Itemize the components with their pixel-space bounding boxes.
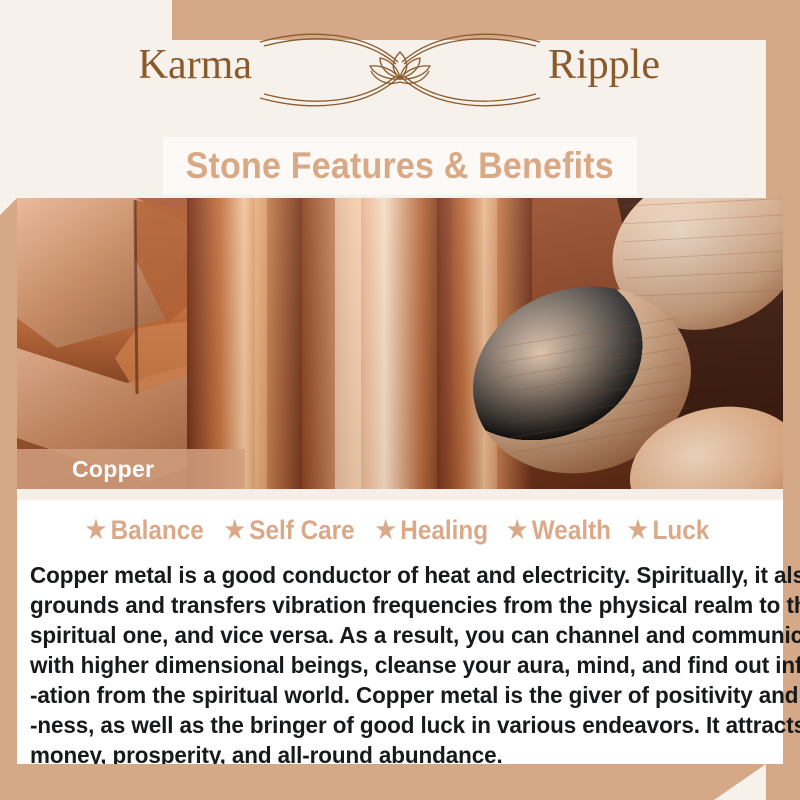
feature-item: ★ Luck bbox=[628, 515, 716, 546]
feature-item: ★ Balance bbox=[86, 515, 210, 546]
frame-bottom-chamfer bbox=[714, 764, 766, 800]
description-line: grounds and transfers vibration frequenc… bbox=[30, 590, 741, 620]
feature-label: Balance bbox=[111, 515, 204, 546]
description-line: -ness, as well as the bringer of good lu… bbox=[30, 710, 741, 740]
description-line: with higher dimensional beings, cleanse … bbox=[30, 650, 741, 680]
brand-name-left: Karma bbox=[140, 42, 252, 88]
feature-label: Self Care bbox=[250, 515, 355, 546]
frame-left-chamfer bbox=[0, 198, 17, 215]
copper-bars-illustration bbox=[17, 198, 783, 489]
star-icon: ★ bbox=[225, 518, 245, 543]
content-top-fade bbox=[17, 489, 783, 500]
feature-label: Luck bbox=[653, 515, 710, 546]
lotus-flourish-icon: Karma Ripple bbox=[140, 20, 660, 120]
description-line: -ation from the spiritual world. Copper … bbox=[30, 680, 741, 710]
title-banner: Stone Features & Benefits bbox=[163, 137, 637, 195]
description-line: spiritual one, and vice versa. As a resu… bbox=[30, 620, 741, 650]
frame-left-bar bbox=[0, 198, 17, 800]
star-icon: ★ bbox=[628, 518, 648, 543]
copper-bars-photo bbox=[17, 198, 783, 489]
description-text: Copper metal is a good conductor of heat… bbox=[30, 560, 775, 770]
feature-item: ★ Healing bbox=[375, 515, 494, 546]
star-icon: ★ bbox=[86, 518, 106, 543]
frame-bottom-bar bbox=[0, 764, 800, 800]
feature-item: ★ Self Care bbox=[225, 515, 361, 546]
page-title: Stone Features & Benefits bbox=[186, 145, 614, 187]
description-line: Copper metal is a good conductor of heat… bbox=[30, 560, 741, 590]
brand-logo: Karma Ripple bbox=[0, 18, 800, 122]
star-icon: ★ bbox=[507, 518, 527, 543]
feature-label: Wealth bbox=[532, 515, 611, 546]
feature-list: ★ Balance ★ Self Care ★ Healing ★ Wealth… bbox=[17, 509, 783, 551]
feature-label: Healing bbox=[400, 515, 488, 546]
brand-name-right: Ripple bbox=[548, 42, 660, 88]
photo-label-text: Copper bbox=[72, 456, 154, 483]
feature-item: ★ Wealth bbox=[507, 515, 617, 546]
poster-canvas: Karma Ripple Stone Features & Benefits bbox=[0, 0, 800, 800]
star-icon: ★ bbox=[375, 518, 395, 543]
photo-label-chip: Copper bbox=[17, 449, 245, 489]
